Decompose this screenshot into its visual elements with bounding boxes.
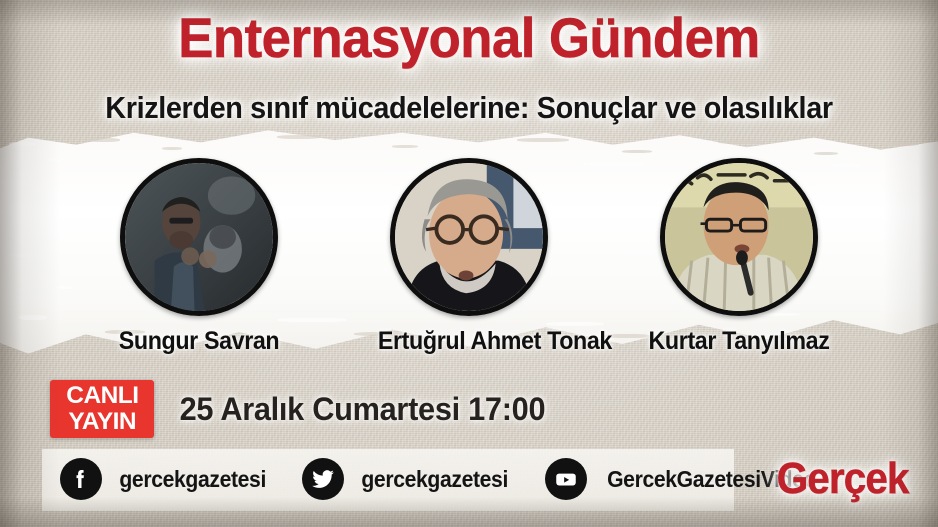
event-poster: Enternasyonal Gündem Krizlerden sınıf mü… [0, 0, 938, 527]
edge-vignette [0, 0, 938, 527]
